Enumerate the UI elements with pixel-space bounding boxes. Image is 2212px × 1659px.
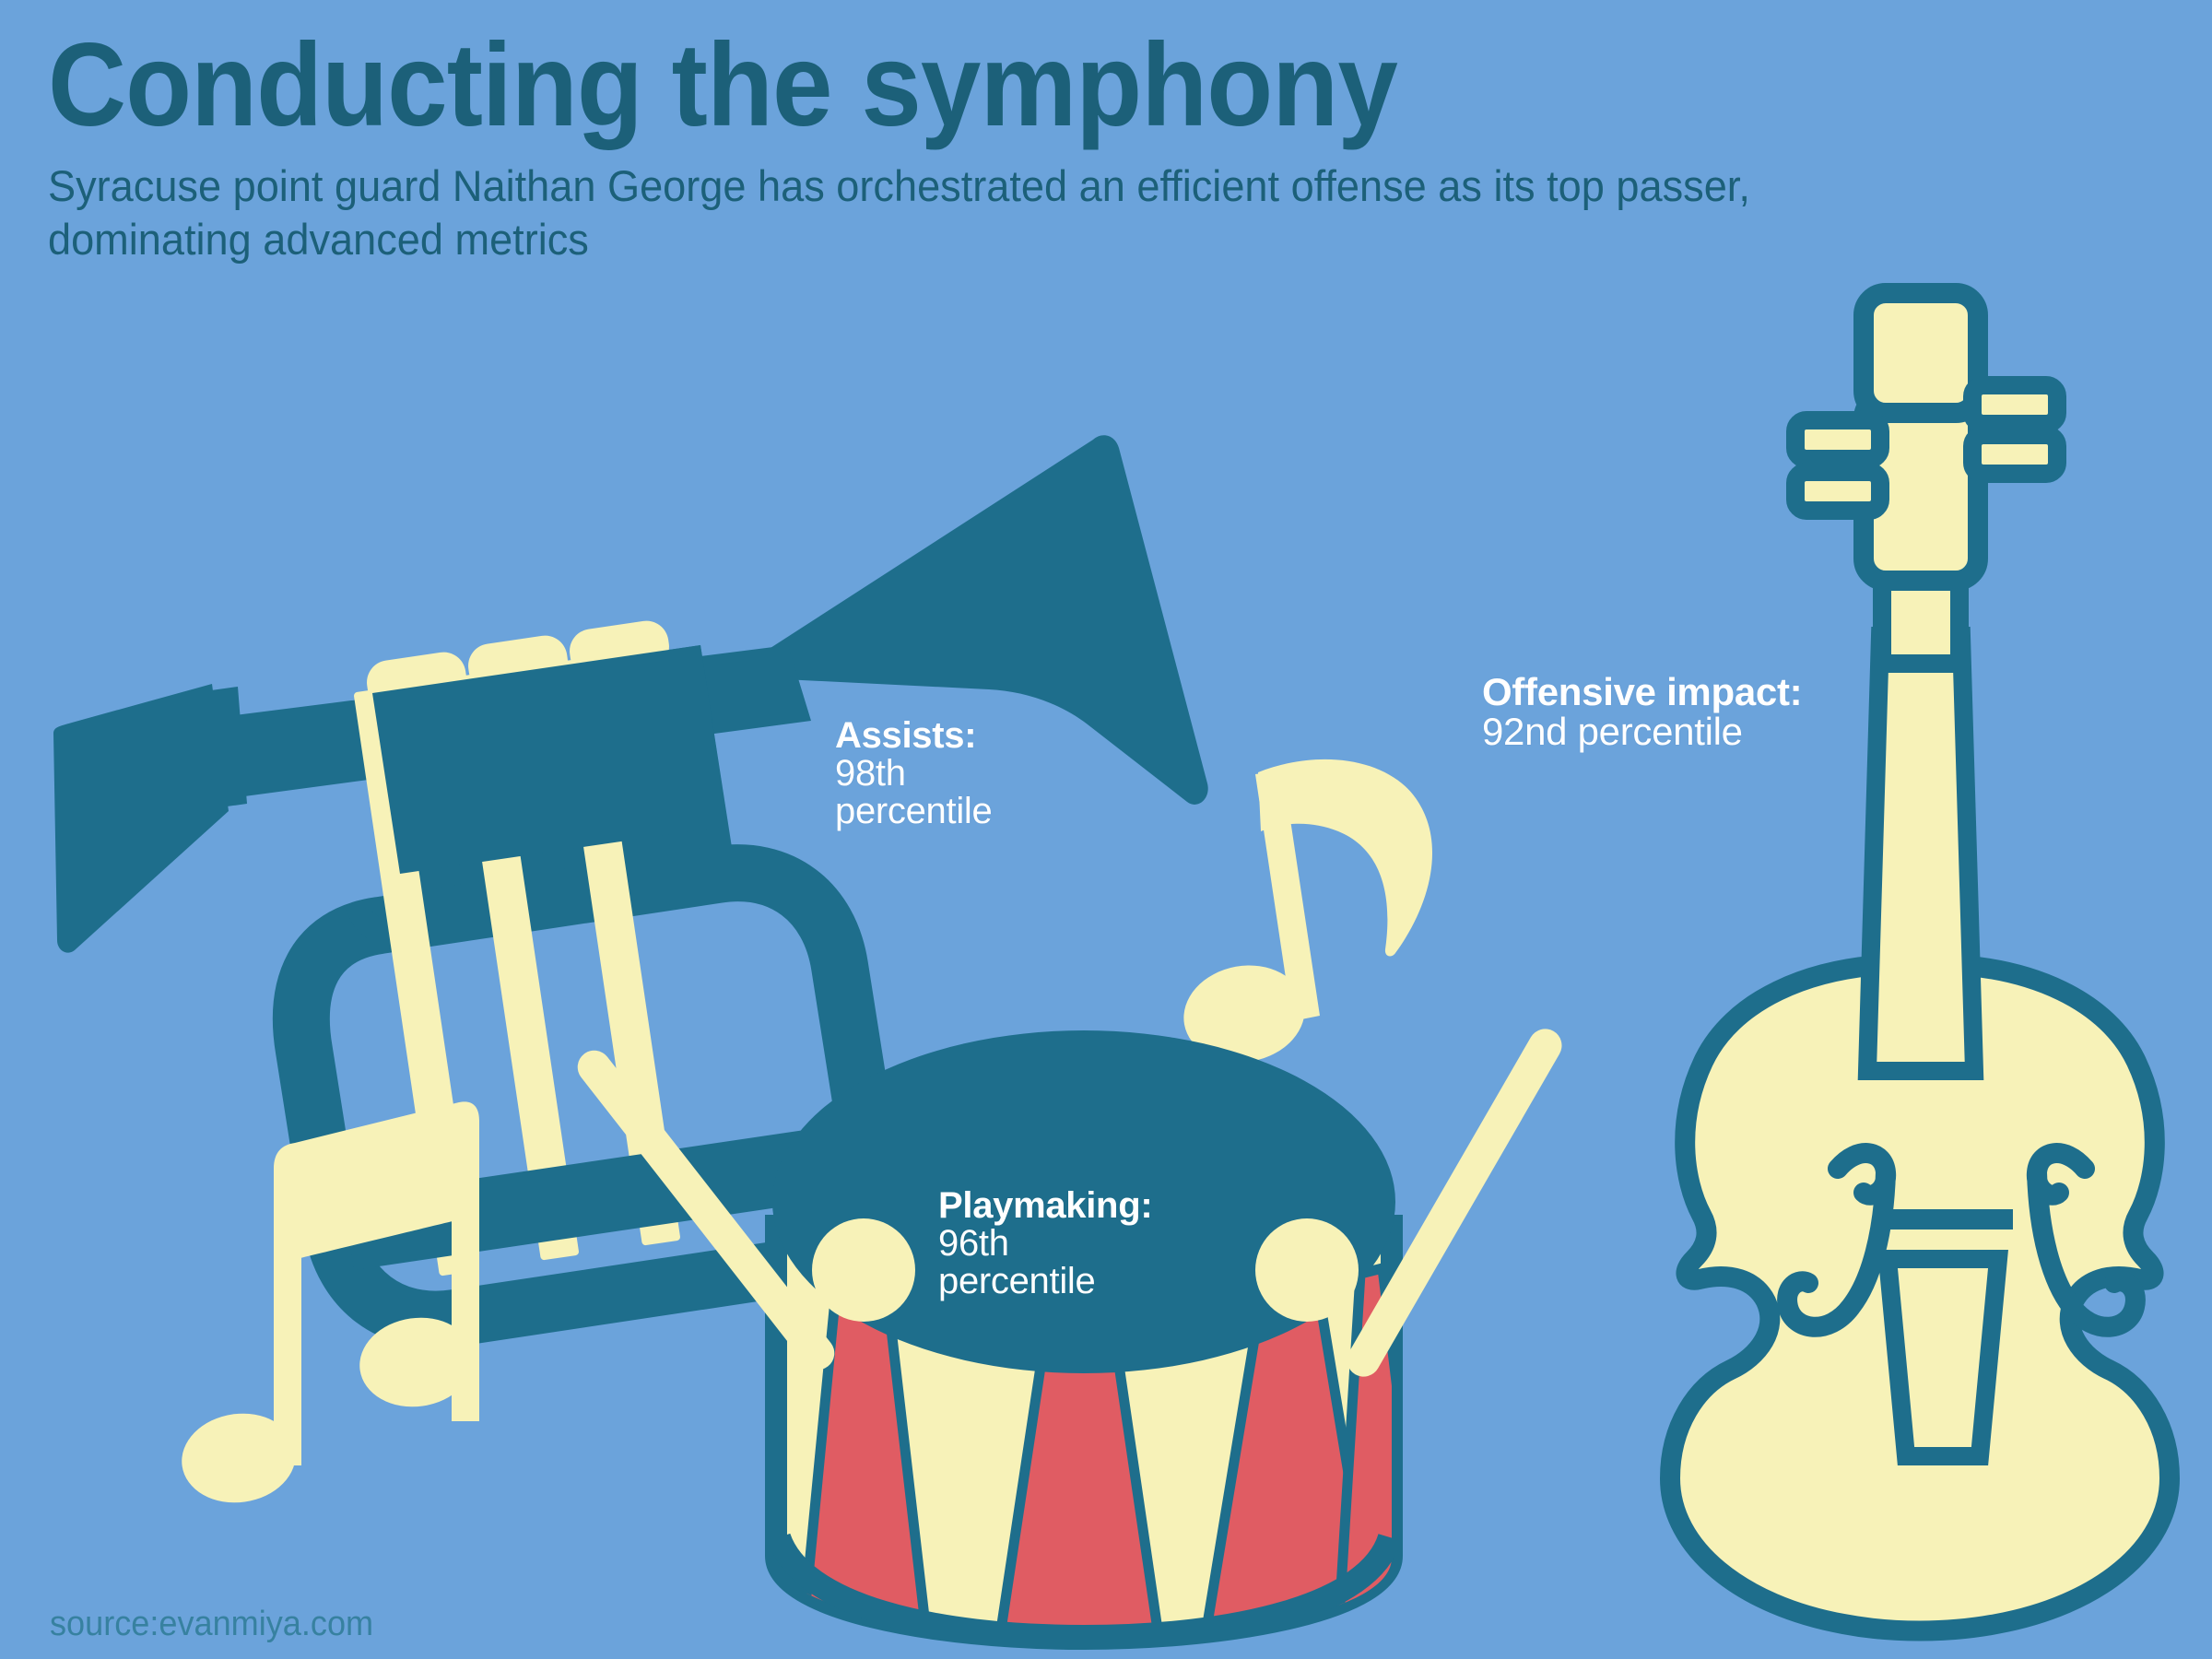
violin-scroll [1864, 293, 1978, 413]
callout-playmaking-unit: percentile [938, 1263, 1152, 1300]
callout-assists: Assists: 98th percentile [835, 717, 992, 829]
snare-drum-illustration [571, 1023, 1568, 1642]
callout-playmaking-title: Playmaking: [938, 1187, 1152, 1225]
page-title: Conducting the symphony [48, 26, 1913, 147]
callout-offensive-impact: Offensive impact: 92nd percentile [1482, 673, 1802, 752]
violin-tailpiece [1888, 1259, 1998, 1456]
header: Conducting the symphony Syracuse point g… [48, 26, 2076, 267]
callout-assists-value: 98th [835, 755, 992, 793]
callout-playmaking: Playmaking: 96th percentile [938, 1187, 1152, 1300]
callout-assists-title: Assists: [835, 717, 992, 755]
page-subtitle: Syracuse point guard Naithan George has … [48, 159, 1950, 268]
source-credit: source:evanmiya.com [50, 1605, 373, 1644]
violin-illustration [1670, 293, 2170, 1631]
eighth-note-icon [1176, 759, 1432, 1072]
callout-offensive-impact-value: 92nd percentile [1482, 712, 1802, 752]
callout-assists-unit: percentile [835, 793, 992, 830]
callout-playmaking-value: 96th [938, 1225, 1152, 1263]
trumpet-mouthpiece [53, 684, 229, 953]
violin-fingerboard [1867, 636, 1974, 1071]
infographic-poster: Conducting the symphony Syracuse point g… [0, 0, 2212, 1659]
callout-offensive-impact-title: Offensive impact: [1482, 673, 1802, 712]
violin-bridge [1877, 1209, 2013, 1230]
